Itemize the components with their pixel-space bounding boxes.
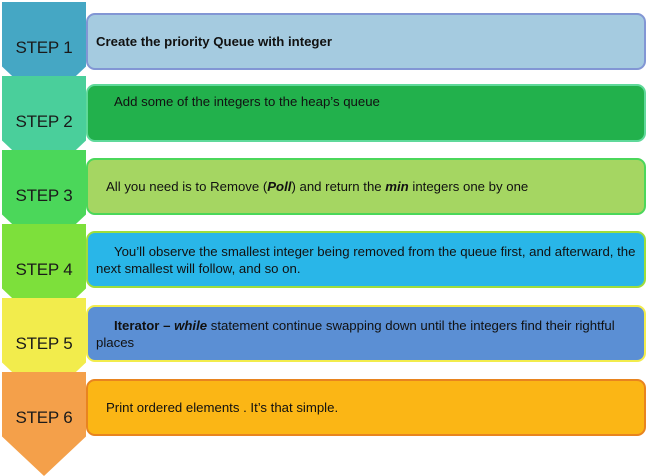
step-content-box-2: Add some of the integers to the heap’s q… (86, 84, 646, 142)
step-label-4: STEP 4 (2, 260, 86, 279)
step-content-box-1: Create the priority Queue with integer (86, 13, 646, 70)
text-run: ) and return the (291, 179, 385, 194)
text-run: Add some of the integers to the heap’s q… (114, 94, 380, 109)
step-text-1: Create the priority Queue with integer (96, 33, 636, 50)
step-label-3: STEP 3 (2, 186, 86, 205)
step-text-4: You’ll observe the smallest integer bein… (96, 243, 636, 277)
text-run: All you need is to Remove ( (106, 179, 267, 194)
text-run: while (174, 318, 207, 333)
step-text-6: Print ordered elements . It’s that simpl… (96, 399, 636, 416)
step-content-box-6: Print ordered elements . It’s that simpl… (86, 379, 646, 436)
text-run: min (385, 179, 408, 194)
step-label-6: STEP 6 (2, 408, 86, 427)
step-content-box-5: Iterator – while statement continue swap… (86, 305, 646, 362)
step-text-3: All you need is to Remove (Poll) and ret… (96, 178, 636, 195)
step-flow-diagram: STEP 1 Create the priority Queue with in… (0, 0, 650, 461)
step-chevron-6: STEP 6 (2, 372, 86, 476)
text-run: integers one by one (409, 179, 529, 194)
step-content-box-4: You’ll observe the smallest integer bein… (86, 231, 646, 288)
text-run: Iterator – (114, 318, 174, 333)
step-text-5: Iterator – while statement continue swap… (96, 317, 636, 351)
step-label-5: STEP 5 (2, 334, 86, 353)
text-run: Print ordered elements . It’s that simpl… (106, 400, 338, 415)
text-run: Poll (267, 179, 291, 194)
step-label-1: STEP 1 (2, 38, 86, 57)
text-run: Create the priority Queue with integer (96, 34, 332, 49)
step-content-box-3: All you need is to Remove (Poll) and ret… (86, 158, 646, 215)
step-text-2: Add some of the integers to the heap’s q… (96, 93, 636, 110)
step-label-2: STEP 2 (2, 112, 86, 131)
text-run: You’ll observe the smallest integer bein… (96, 244, 635, 276)
